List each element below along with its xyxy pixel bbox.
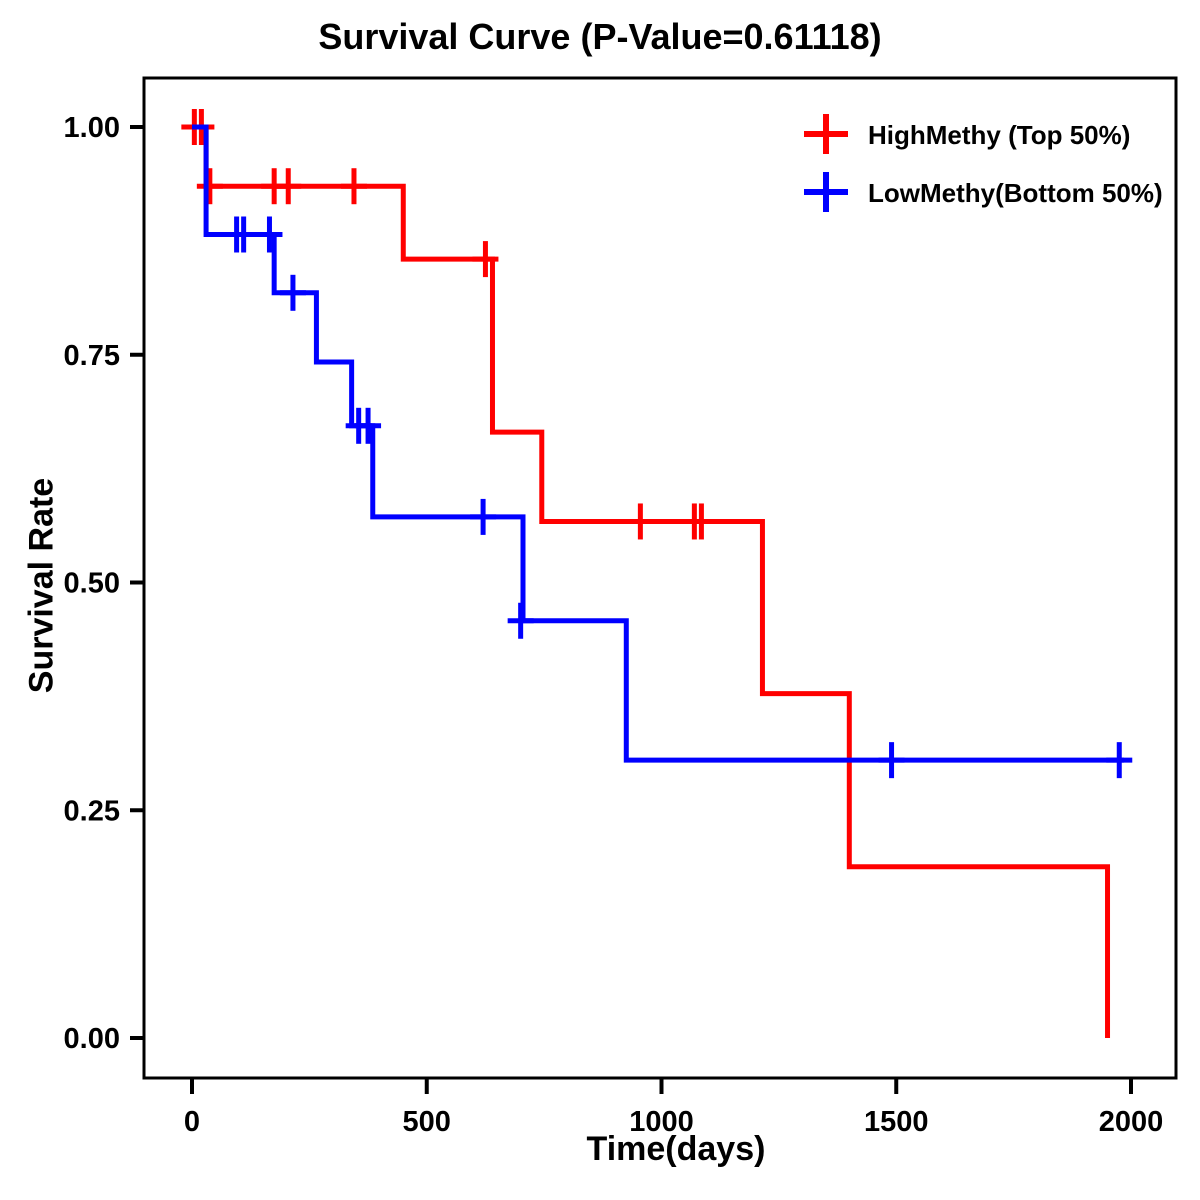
plot-area: 0.000.250.500.751.00 0500100015002000 Hi… xyxy=(0,0,1200,1200)
x-tick-label: 1000 xyxy=(629,1106,694,1138)
y-tick-label: 0.75 xyxy=(64,340,120,372)
y-tick-label: 0.50 xyxy=(64,568,120,600)
x-tick-label: 1500 xyxy=(864,1106,929,1138)
y-tick-label: 1.00 xyxy=(64,112,120,144)
legend-item-label: HighMethy (Top 50%) xyxy=(868,120,1130,150)
y-axis-ticks: 0.000.250.500.751.00 xyxy=(64,112,144,1055)
x-axis-ticks: 0500100015002000 xyxy=(184,1078,1163,1138)
y-tick-label: 0.00 xyxy=(64,1023,120,1055)
plot-frame xyxy=(144,78,1176,1078)
x-tick-label: 0 xyxy=(184,1106,200,1138)
x-tick-label: 500 xyxy=(403,1106,451,1138)
y-tick-label: 0.25 xyxy=(64,795,120,827)
survival-curve-figure: Survival Curve (P-Value=0.61118) Surviva… xyxy=(0,0,1200,1200)
legend-item-label: LowMethy(Bottom 50%) xyxy=(868,178,1163,208)
x-tick-label: 2000 xyxy=(1099,1106,1164,1138)
